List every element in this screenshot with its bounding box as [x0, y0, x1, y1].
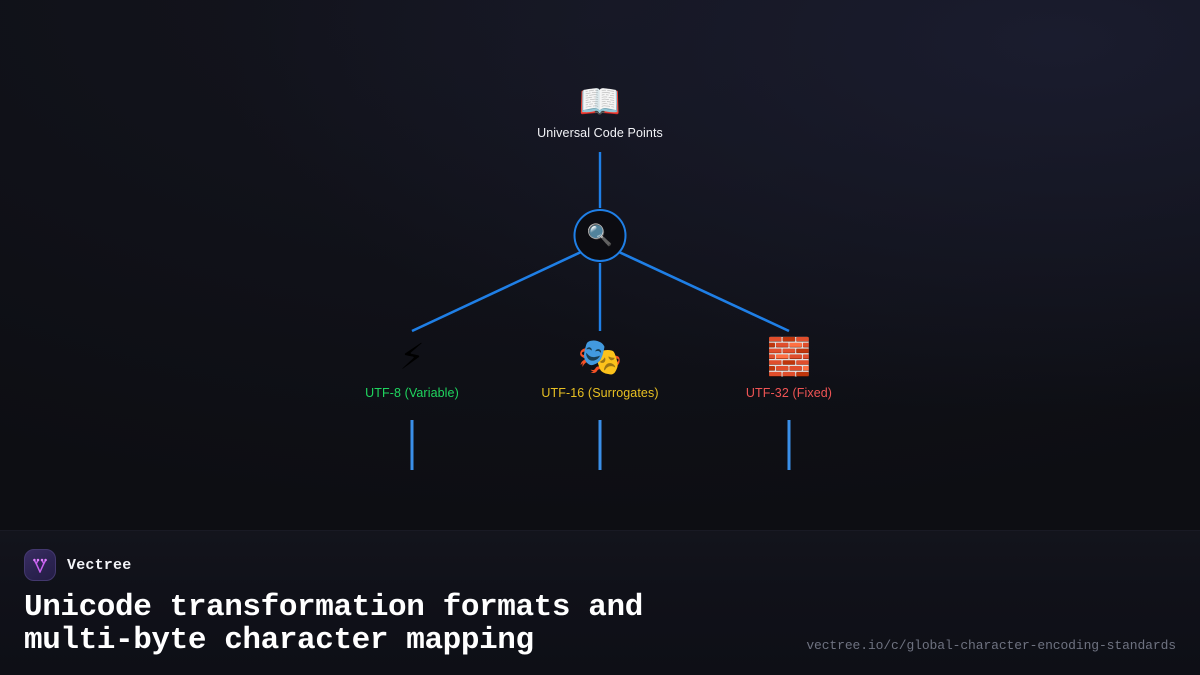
page-title: Unicode transformation formats and multi…: [24, 591, 643, 657]
performing-arts-masks-icon: 🎭: [578, 340, 623, 376]
vectree-branching-v-logo-icon: [24, 549, 56, 581]
tree-node-utf32[interactable]: 🧱 UTF-32 (Fixed): [746, 340, 832, 400]
page-title-line-1: Unicode transformation formats and: [24, 590, 643, 625]
edge-hub-to-utf32: [619, 252, 789, 331]
footer-title-row: Unicode transformation formats and multi…: [24, 591, 1176, 657]
tree-diagram-canvas[interactable]: 📖 Universal Code Points 🔍 ⚡ UTF-8 (Varia…: [0, 0, 1200, 530]
tree-node-utf16[interactable]: 🎭 UTF-16 (Surrogates): [541, 340, 658, 400]
edge-hub-to-utf8: [412, 252, 581, 331]
brand[interactable]: Vectree: [24, 549, 1176, 581]
tree-node-root[interactable]: 📖 Universal Code Points: [537, 85, 663, 140]
magnifying-glass-icon: 🔍: [587, 225, 613, 246]
tree-edges: [0, 0, 1200, 530]
open-book-icon: 📖: [579, 85, 621, 119]
lightning-bolt-icon: ⚡: [399, 340, 424, 376]
tree-node-utf32-label: UTF-32 (Fixed): [746, 386, 832, 400]
tree-node-hub[interactable]: 🔍: [574, 209, 627, 262]
tree-node-utf16-label: UTF-16 (Surrogates): [541, 386, 658, 400]
tree-node-utf8[interactable]: ⚡ UTF-8 (Variable): [365, 340, 459, 400]
page-title-line-2: multi-byte character mapping: [24, 624, 643, 657]
source-url[interactable]: vectree.io/c/global-character-encoding-s…: [806, 638, 1176, 657]
screenshot-root: 📖 Universal Code Points 🔍 ⚡ UTF-8 (Varia…: [0, 0, 1200, 675]
brand-name: Vectree: [67, 557, 131, 574]
footer-bar: Vectree Unicode transformation formats a…: [0, 530, 1200, 675]
tree-node-utf8-label: UTF-8 (Variable): [365, 386, 459, 400]
tree-node-root-label: Universal Code Points: [537, 126, 663, 140]
brick-wall-icon: 🧱: [767, 340, 812, 376]
